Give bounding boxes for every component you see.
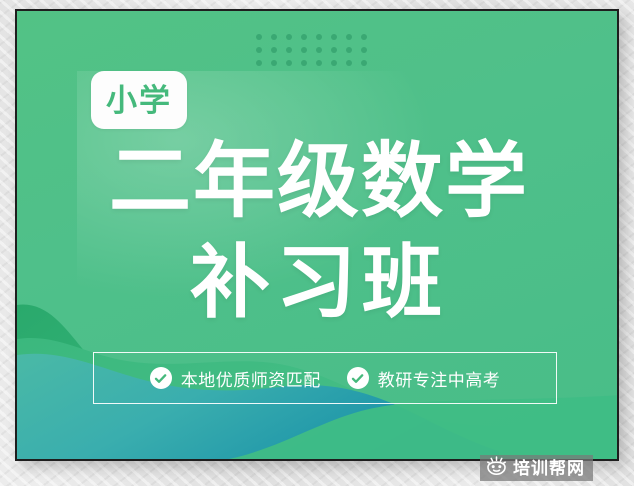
feature-item-label: 本地优质师资匹配 <box>181 366 321 391</box>
dot-grid-decoration <box>251 30 371 70</box>
feature-item-teacher-matching: 本地优质师资匹配 <box>150 366 321 391</box>
course-poster-card: 小学 二年级数学 补习班 本地优质师资匹配 教研专 <box>15 9 619 461</box>
poster-headline-secondary: 补习班 <box>17 243 619 323</box>
screenshot-canvas: 小学 二年级数学 补习班 本地优质师资匹配 教研专 <box>0 0 634 486</box>
grade-level-badge: 小学 <box>91 71 187 129</box>
watermark-label: 培训帮网 <box>513 460 585 477</box>
feature-item-label: 教研专注中高考 <box>378 366 501 391</box>
feature-highlight-bar: 本地优质师资匹配 教研专注中高考 <box>93 352 557 404</box>
watermark: 培训帮网 <box>480 455 593 481</box>
sun-face-icon <box>486 456 507 481</box>
grade-level-badge-label: 小学 <box>106 85 172 116</box>
check-circle-icon <box>347 367 369 389</box>
feature-item-exam-focus: 教研专注中高考 <box>347 366 501 391</box>
check-circle-icon <box>150 367 172 389</box>
poster-headline-primary: 二年级数学 <box>17 141 619 223</box>
